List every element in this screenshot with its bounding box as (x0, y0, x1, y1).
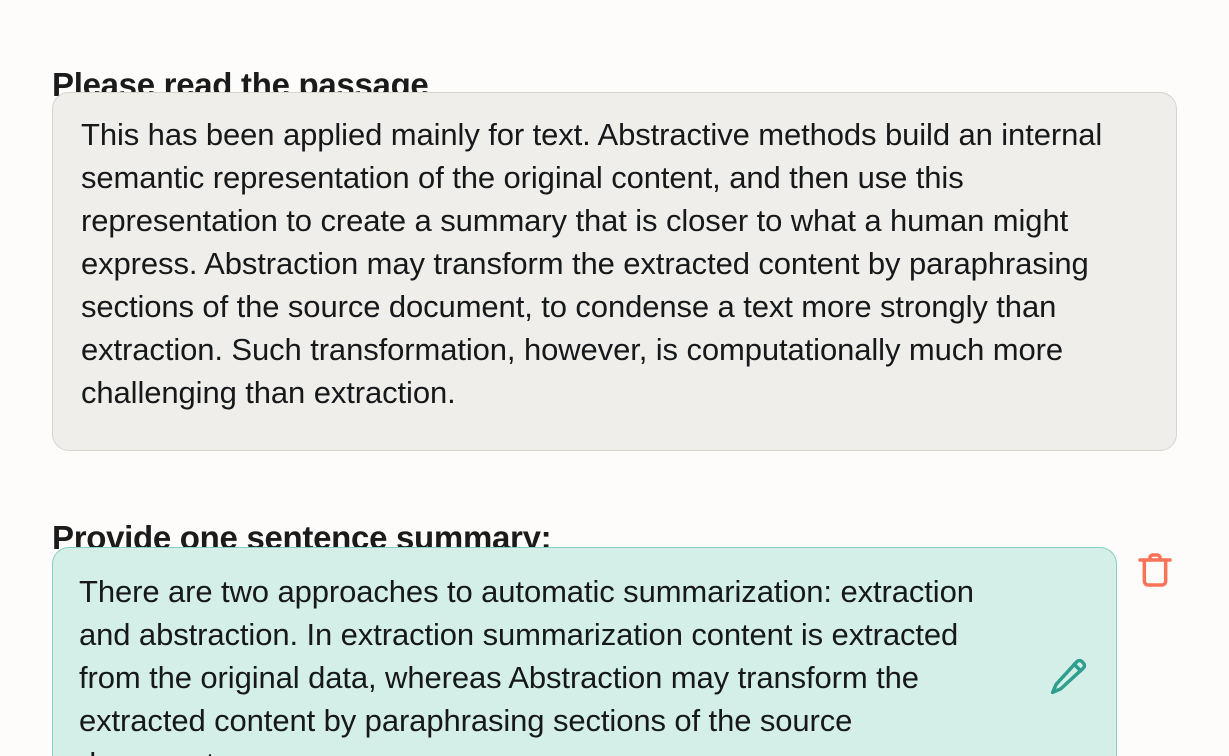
summary-input-card[interactable]: There are two approaches to automatic su… (52, 547, 1117, 756)
passage-card: This has been applied mainly for text. A… (52, 92, 1177, 451)
pencil-icon (1046, 655, 1090, 699)
summary-text[interactable]: There are two approaches to automatic su… (79, 570, 996, 756)
passage-text: This has been applied mainly for text. A… (81, 113, 1156, 414)
edit-summary-button[interactable] (1046, 655, 1090, 699)
trash-icon (1135, 550, 1175, 590)
delete-summary-button[interactable] (1135, 550, 1175, 590)
reading-comprehension-page: Please read the passage This has been ap… (0, 0, 1229, 756)
